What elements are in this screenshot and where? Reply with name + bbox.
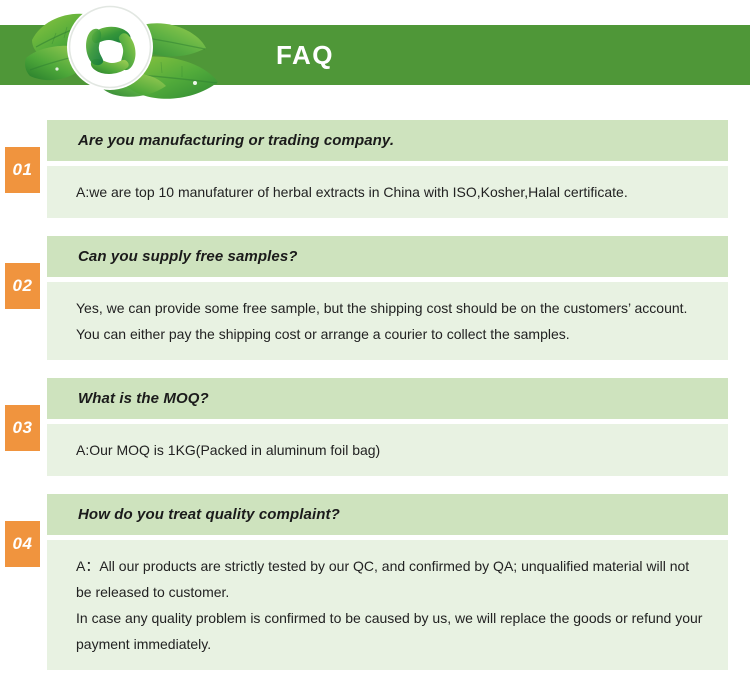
faq-number-badge: 02 (5, 263, 40, 309)
faq-question-text: Can you supply free samples? (78, 248, 298, 265)
faq-answer: A:Our MOQ is 1KG(Packed in aluminum foil… (47, 424, 728, 476)
faq-number-badge: 01 (5, 147, 40, 193)
faq-question-text: What is the MOQ? (78, 390, 209, 407)
page-header: FAQ (0, 0, 750, 120)
faq-question[interactable]: How do you treat quality complaint? (47, 494, 728, 535)
faq-question[interactable]: Are you manufacturing or trading company… (47, 120, 728, 161)
faq-question[interactable]: What is the MOQ? (47, 378, 728, 419)
faq-answer-line: Yes, we can provide some free sample, bu… (76, 295, 708, 347)
faq-answer-line: A:we are top 10 manufaturer of herbal ex… (76, 179, 708, 205)
company-logo (14, 0, 224, 112)
faq-number-badge: 03 (5, 405, 40, 451)
faq-item: 01 Are you manufacturing or trading comp… (0, 120, 750, 218)
faq-question-text: Are you manufacturing or trading company… (78, 132, 394, 149)
faq-answer: A:we are top 10 manufaturer of herbal ex… (47, 166, 728, 218)
faq-answer-line: A:Our MOQ is 1KG(Packed in aluminum foil… (76, 437, 708, 463)
green-leaf-recycle-logo-icon (14, 0, 224, 112)
faq-answer-line: A：All our products are strictly tested b… (76, 553, 708, 605)
faq-answer: A：All our products are strictly tested b… (47, 540, 728, 670)
faq-list: 01 Are you manufacturing or trading comp… (0, 120, 750, 688)
faq-item: 03 What is the MOQ? A:Our MOQ is 1KG(Pac… (0, 378, 750, 476)
faq-question-text: How do you treat quality complaint? (78, 506, 340, 523)
faq-number-badge: 04 (5, 521, 40, 567)
faq-question[interactable]: Can you supply free samples? (47, 236, 728, 277)
faq-item: 02 Can you supply free samples? Yes, we … (0, 236, 750, 360)
faq-answer: Yes, we can provide some free sample, bu… (47, 282, 728, 360)
faq-answer-line: In case any quality problem is confirmed… (76, 605, 708, 657)
faq-item: 04 How do you treat quality complaint? A… (0, 494, 750, 670)
